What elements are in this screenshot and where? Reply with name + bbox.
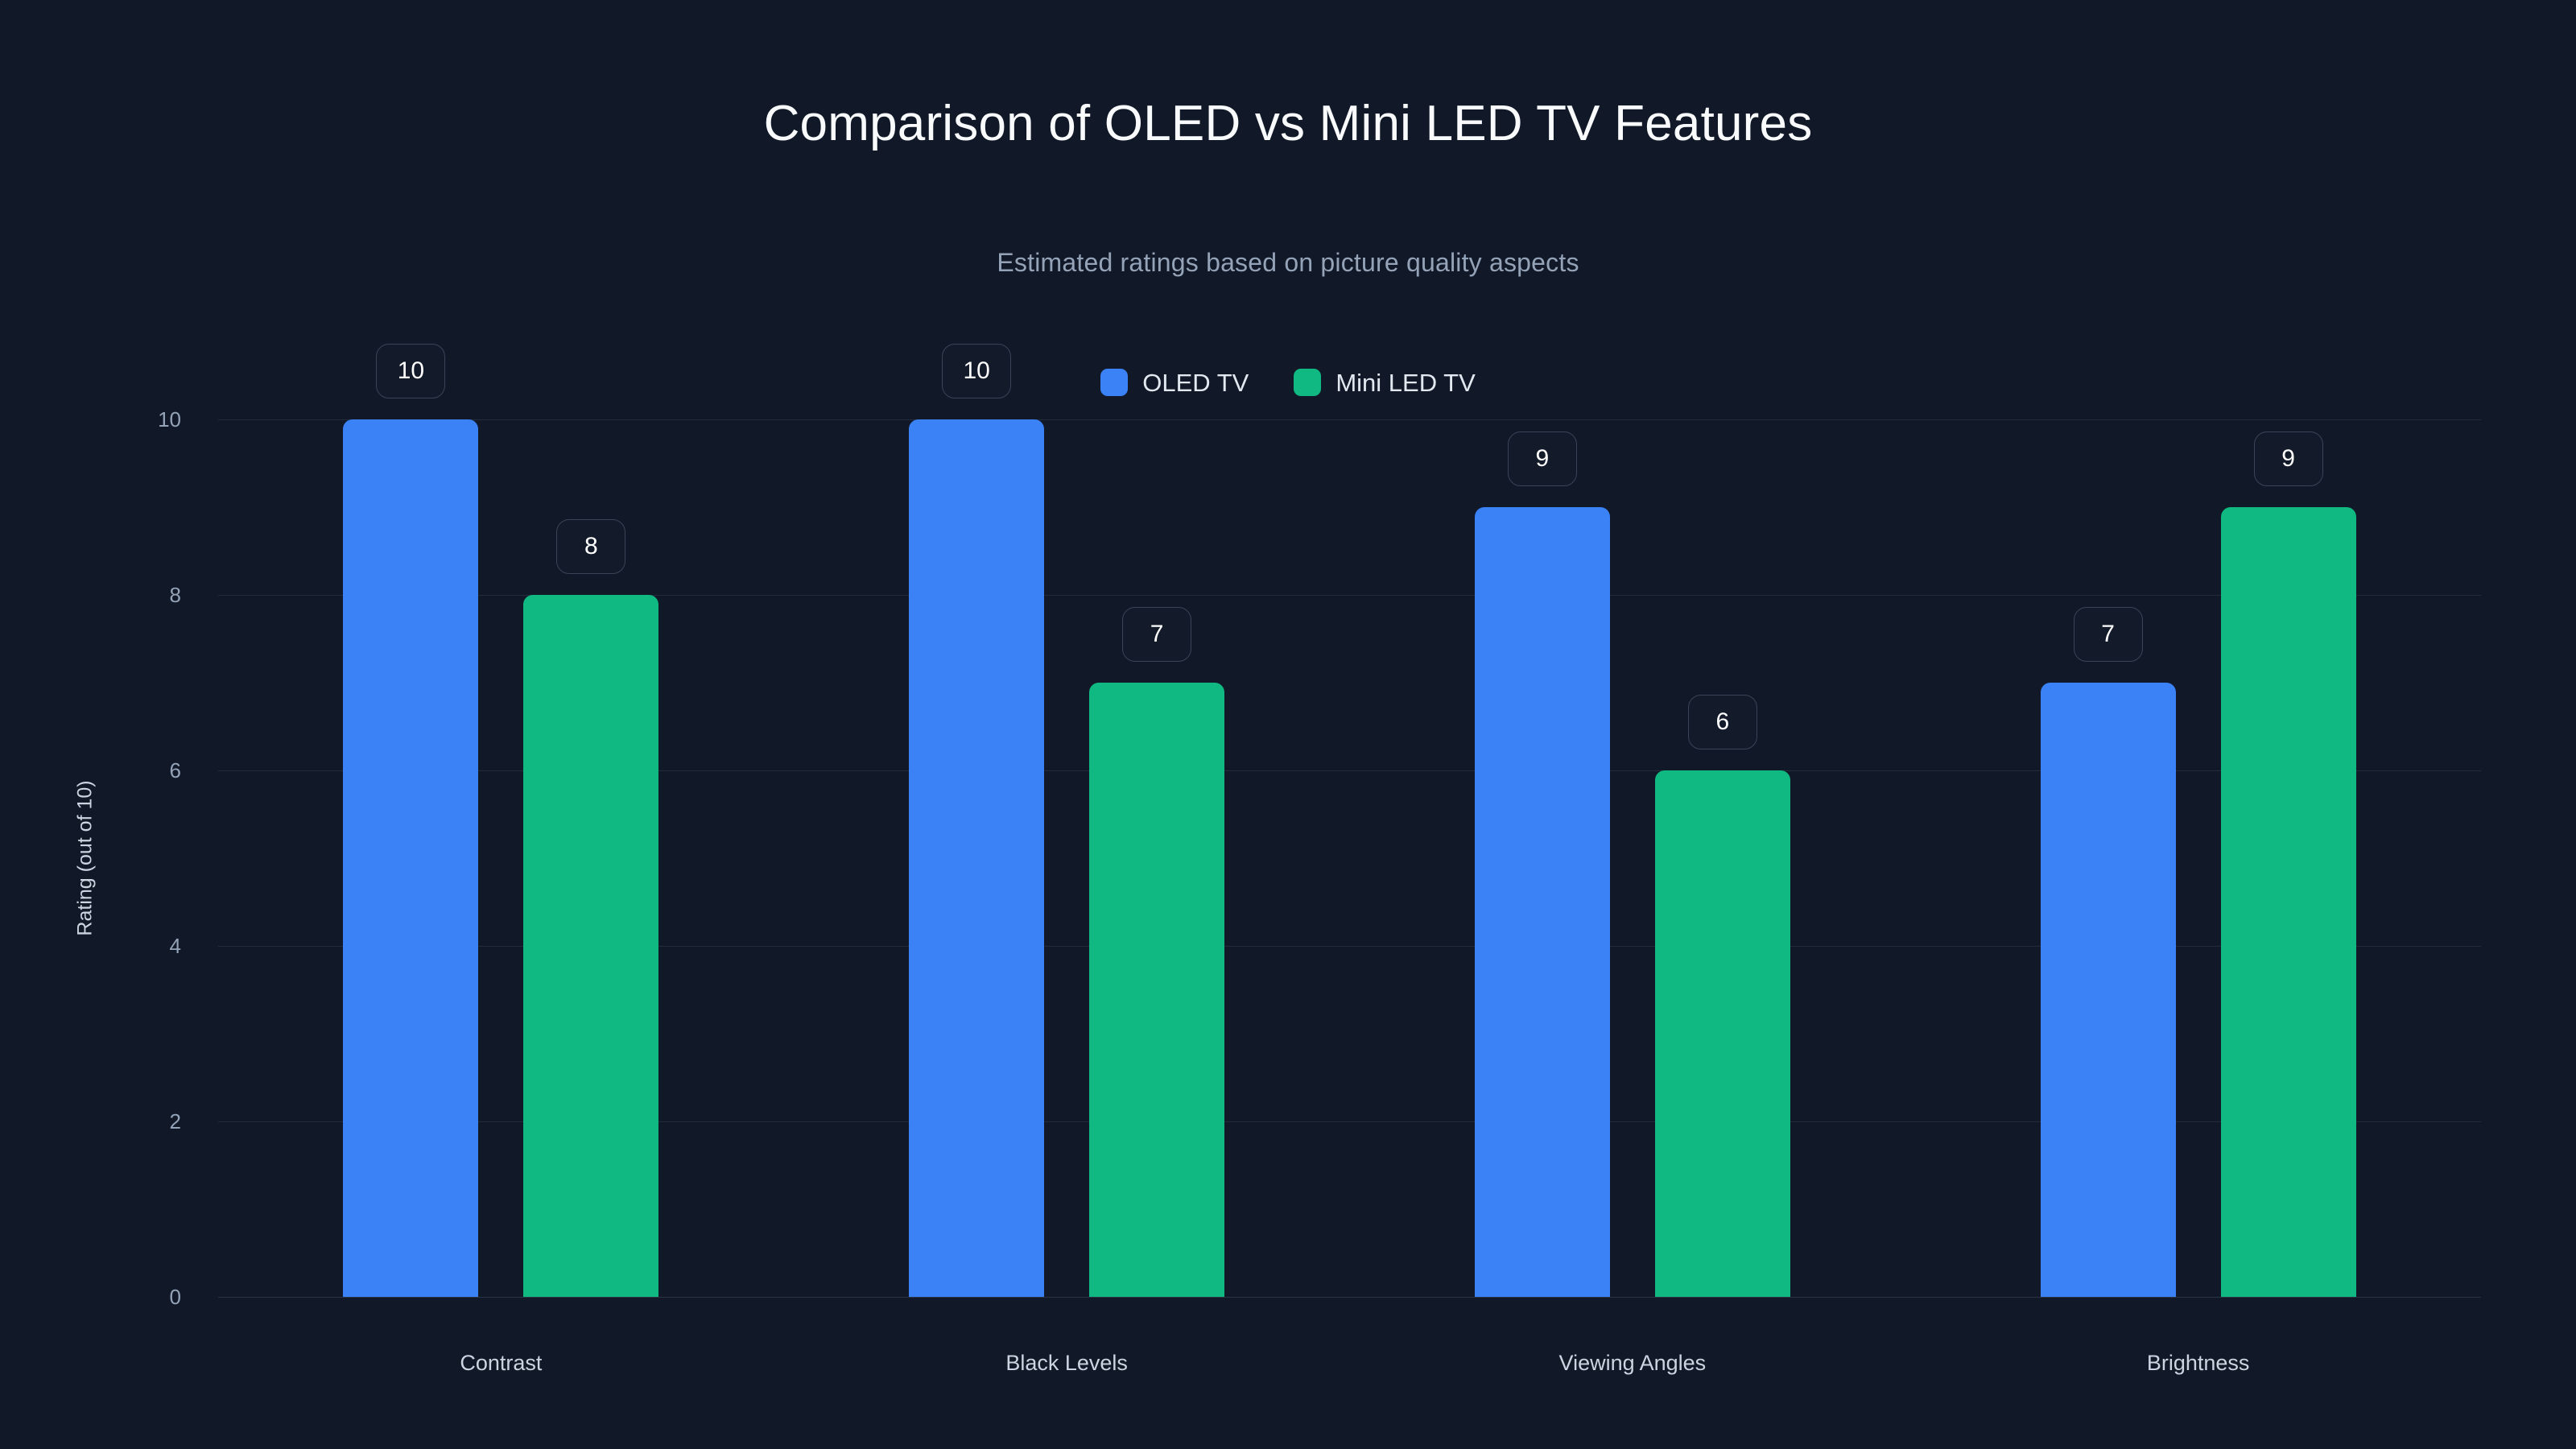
legend-swatch-icon [1100,369,1128,396]
bar-chart: Comparison of OLED vs Mini LED TV Featur… [0,0,2576,1449]
y-axis-tick-label: 4 [170,935,181,956]
y-axis-tick-label: 0 [170,1286,181,1307]
gridline [218,419,2481,420]
gridline [218,1297,2481,1298]
y-axis-tick-label: 10 [158,409,181,430]
x-axis-tick-label: Viewing Angles [1559,1352,1707,1374]
y-axis-tick-label: 8 [170,584,181,605]
y-axis-tick-label: 6 [170,760,181,781]
bar-oled-tv-black-levels[interactable] [909,419,1044,1297]
bar-value-badge: 7 [1122,607,1191,662]
bar-value-badge: 9 [2254,431,2323,486]
bar-value-badge: 10 [942,344,1011,398]
bar-oled-tv-contrast[interactable] [343,419,478,1297]
bar-value-badge: 9 [1508,431,1577,486]
bar-value-badge: 6 [1688,695,1757,749]
legend-item-mini-led-tv[interactable]: Mini LED TV [1294,369,1475,396]
legend-label: Mini LED TV [1335,370,1475,395]
legend-item-oled-tv[interactable]: OLED TV [1100,369,1249,396]
y-axis-title: Rating (out of 10) [76,780,96,935]
x-axis-tick-label: Brightness [2147,1352,2250,1374]
bar-mini-led-tv-black-levels[interactable] [1089,683,1224,1297]
bar-value-badge: 7 [2074,607,2143,662]
chart-title: Comparison of OLED vs Mini LED TV Featur… [0,95,2576,152]
bar-value-badge: 8 [556,519,625,574]
legend-label: OLED TV [1142,370,1249,395]
legend-swatch-icon [1294,369,1321,396]
y-axis-tick-label: 2 [170,1111,181,1132]
chart-subtitle: Estimated ratings based on picture quali… [0,248,2576,278]
bar-mini-led-tv-contrast[interactable] [523,595,658,1297]
y-axis: 0246810 [0,419,218,1297]
bar-mini-led-tv-viewing-angles[interactable] [1655,770,1790,1297]
bar-oled-tv-viewing-angles[interactable] [1475,507,1610,1297]
bar-value-badge: 10 [376,344,445,398]
bar-oled-tv-brightness[interactable] [2041,683,2176,1297]
bar-mini-led-tv-brightness[interactable] [2221,507,2356,1297]
plot-area: 1081079679 [218,419,2481,1297]
x-axis-tick-label: Contrast [460,1352,542,1374]
x-axis-tick-label: Black Levels [1005,1352,1128,1374]
